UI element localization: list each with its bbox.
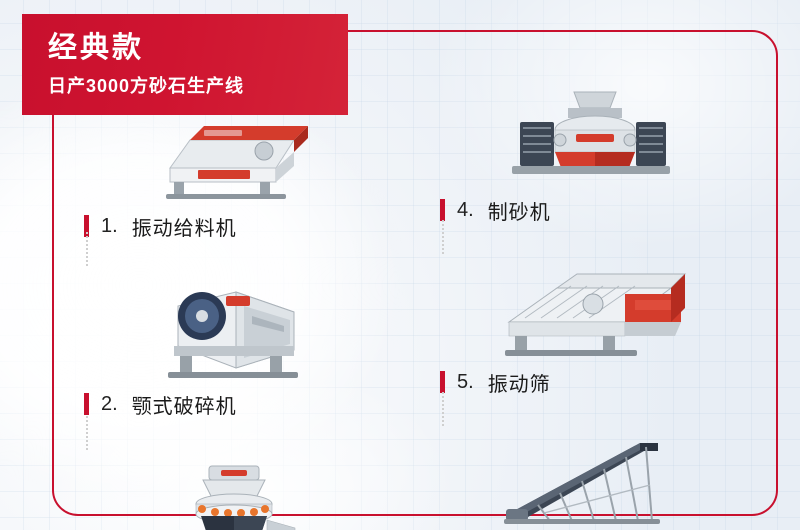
vibrating-feeder-icon (84, 96, 384, 204)
right-column: 4. 制砂机 (440, 80, 740, 530)
list-item[interactable]: 2. 颚式破碎机 (84, 274, 384, 424)
vibrating-screen-icon (440, 252, 740, 360)
promo-poster: 经典款 日产3000方砂石生产线 (0, 0, 800, 530)
item-number: 2. (101, 393, 118, 416)
list-item-label: 5. 振动筛 (440, 362, 740, 402)
belt-conveyor-icon (440, 422, 740, 530)
list-item-label: 1. 振动给料机 (84, 206, 384, 246)
item-name: 制砂机 (488, 196, 551, 225)
list-item-label: 2. 颚式破碎机 (84, 384, 384, 424)
red-tick-marker (440, 371, 445, 393)
dotted-connector (86, 232, 88, 266)
item-number: 1. (101, 215, 118, 238)
item-name: 振动给料机 (132, 212, 237, 241)
jaw-crusher-icon (84, 274, 384, 382)
item-name: 颚式破碎机 (132, 390, 237, 419)
sand-making-machine-icon (440, 80, 740, 188)
red-tick-marker (84, 393, 89, 415)
list-item[interactable]: 1. 振动给料机 (84, 96, 384, 246)
item-number: 4. (457, 199, 474, 222)
item-number: 5. (457, 371, 474, 394)
left-column: 1. 振动给料机 (84, 96, 384, 530)
list-item[interactable]: 6. 输送机 (440, 422, 740, 530)
dotted-connector (442, 392, 444, 426)
list-item-label: 4. 制砂机 (440, 190, 740, 230)
red-tick-marker (440, 199, 445, 221)
list-item[interactable]: 5. 振动筛 (440, 252, 740, 402)
list-item[interactable]: 3. 单缸圆锥破 (84, 452, 384, 530)
item-name: 振动筛 (488, 368, 551, 397)
cone-crusher-icon (84, 452, 384, 530)
dotted-connector (442, 220, 444, 254)
dotted-connector (86, 416, 88, 450)
banner-title: 经典款 (48, 28, 348, 68)
list-item[interactable]: 4. 制砂机 (440, 80, 740, 230)
